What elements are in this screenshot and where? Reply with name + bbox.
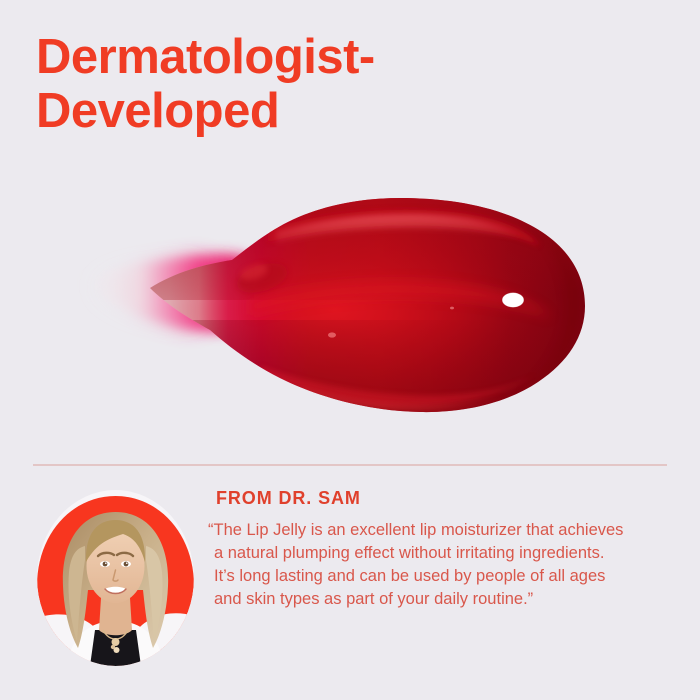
hero-swatch-image (0, 160, 700, 450)
swatch-speck-small-icon (450, 307, 454, 310)
testimonial-quote: “The Lip Jelly is an excellent lip moist… (214, 519, 674, 611)
avatar-portrait-icon (37, 490, 194, 666)
testimonial-section: FROM DR. SAM “The Lip Jelly is an excell… (0, 488, 700, 700)
promo-card: Dermatologist- Developed (0, 0, 700, 700)
testimonial-author-label: FROM DR. SAM (216, 488, 674, 509)
swatch-speck-icon (328, 332, 336, 337)
section-divider (33, 464, 667, 466)
page-title: Dermatologist- Developed (36, 30, 596, 138)
quote-block: FROM DR. SAM “The Lip Jelly is an excell… (214, 488, 674, 611)
swatch-bubble-highlight-icon (502, 293, 524, 308)
lip-gloss-swatch-icon (0, 160, 700, 450)
avatar (37, 490, 194, 666)
